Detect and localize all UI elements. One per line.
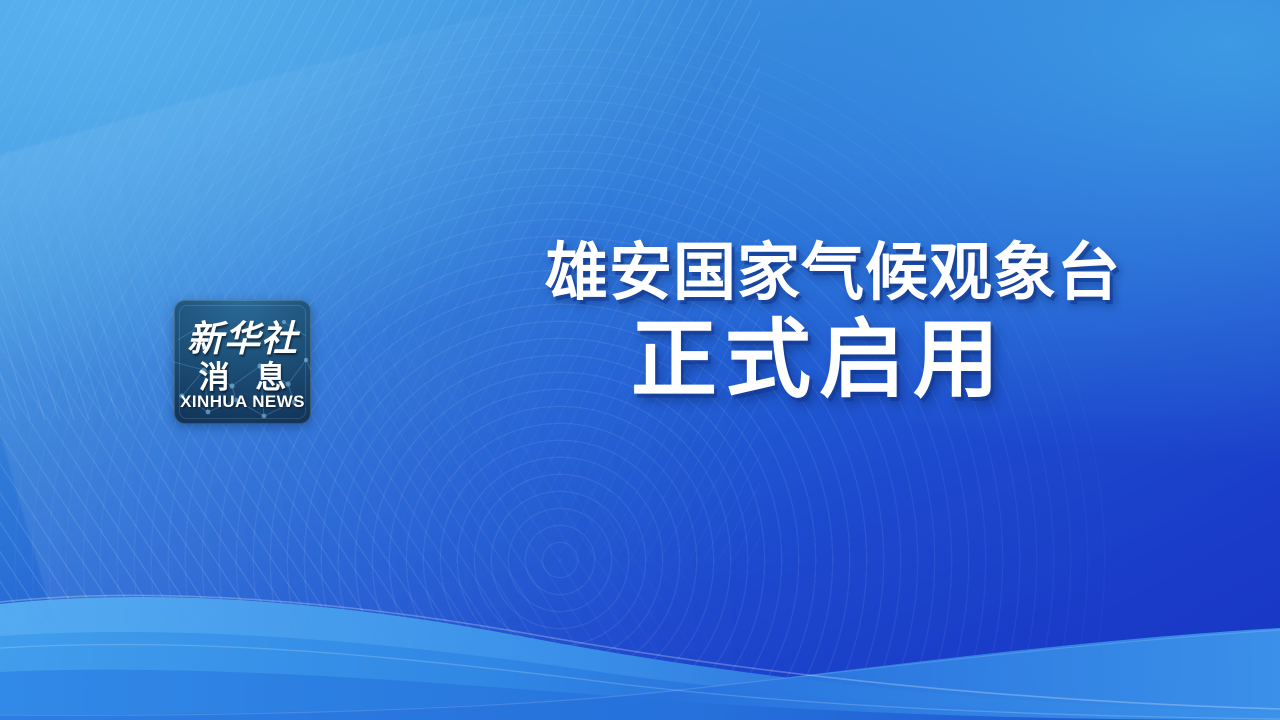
news-card-graphic: 新华社 消 息 XINHUA NEWS 雄安国家气候观象台 正式启用: [0, 0, 1280, 720]
headline-sub-text: 正式启用: [545, 314, 1145, 407]
badge-title-line-2: 消 息: [174, 352, 311, 397]
xinhua-news-logo-badge: 新华社 消 息 XINHUA NEWS: [174, 300, 311, 424]
headline-main-text: 雄安国家气候观象台: [545, 240, 1145, 306]
badge-english-text: XINHUA NEWS: [174, 392, 311, 412]
headline-block: 雄安国家气候观象台 正式启用: [545, 240, 1145, 407]
